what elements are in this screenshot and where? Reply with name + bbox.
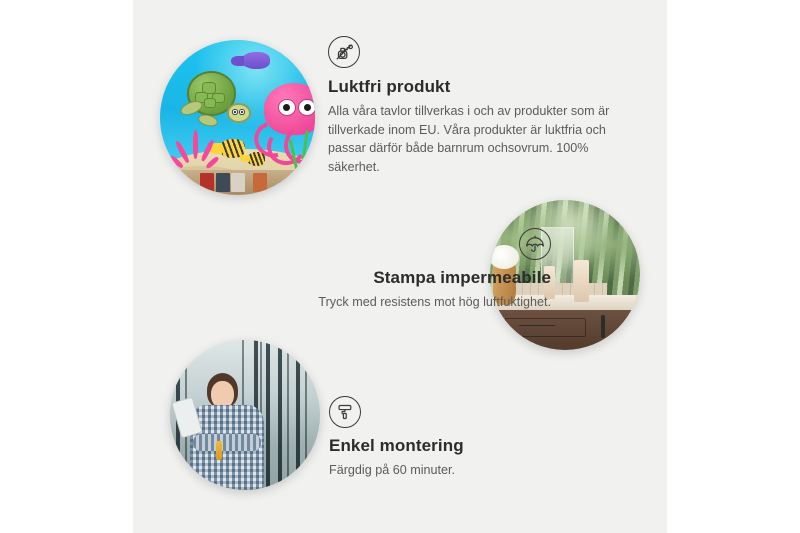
paint-roller-icon (329, 396, 361, 428)
screenshot-root: Luktfri produkt Alla våra tavlor tillver… (0, 0, 800, 533)
vanity-cabinet (499, 310, 640, 351)
book-white (231, 173, 245, 192)
turtle-graphic (180, 71, 248, 127)
woman-with-roller-circle (170, 340, 320, 490)
no-fragrance-icon (328, 36, 360, 68)
feature-easy-mounting: Enkel montering Färgdig på 60 minuter. (329, 396, 589, 480)
door-handle (601, 315, 605, 338)
feature-description: Alla våra tavlor tillverkas i och av pro… (328, 102, 628, 176)
feature-waterproof: Stampa impermeabile Tryck med resistens … (221, 228, 551, 312)
fish-small-yellow (247, 152, 266, 166)
book-orange (253, 173, 267, 192)
underwater-cartoon-circle (160, 40, 315, 195)
hand-tool (216, 441, 222, 460)
umbrella-icon (519, 228, 551, 260)
feature-title: Stampa impermeabile (221, 268, 551, 288)
book-red (200, 173, 214, 192)
crossed-arms (193, 434, 262, 452)
turtle-head (227, 103, 252, 123)
feature-description: Tryck med resistens mot hög luftfuktighe… (221, 293, 551, 312)
lotion-bottle (574, 260, 589, 302)
feature-odourless: Luktfri produkt Alla våra tavlor tillver… (328, 36, 628, 176)
book-blue (216, 173, 230, 192)
woman-figure (188, 373, 266, 490)
feature-description: Färgdig på 60 minuter. (329, 461, 589, 480)
content-panel: Luktfri produkt Alla våra tavlor tillver… (133, 0, 667, 533)
feature-title: Enkel montering (329, 436, 589, 456)
feature-title: Luktfri produkt (328, 77, 628, 97)
vanity-drawer (505, 318, 586, 336)
fish-purple (241, 52, 270, 69)
